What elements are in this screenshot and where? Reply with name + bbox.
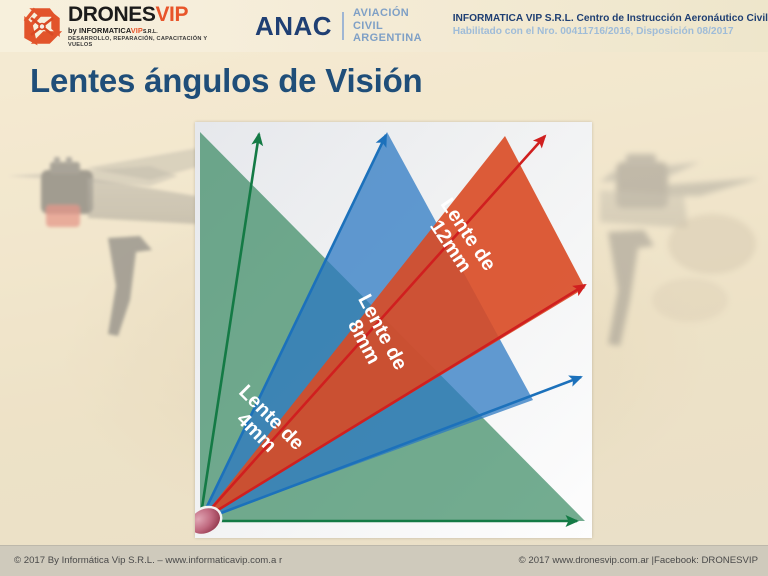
institution-line2: Habilitado con el Nro. 00411716/2016, Di…	[453, 26, 768, 39]
anac-subtitle: AVIACIÓN CIVIL ARGENTINA	[353, 7, 439, 46]
institution-info: INFORMATICA VIP S.R.L. Centro de Instruc…	[453, 13, 768, 39]
page-title: Lentes ángulos de Visión	[30, 62, 423, 100]
logo-sub-by: by INFORMATICA	[68, 26, 131, 35]
dronesvip-logo[interactable]: DRONESVIP by INFORMATICAVIPS.R.L. DESARR…	[0, 4, 229, 48]
header-bar: DRONESVIP by INFORMATICAVIPS.R.L. DESARR…	[0, 0, 768, 52]
institution-line1: INFORMATICA VIP S.R.L. Centro de Instruc…	[453, 13, 768, 26]
slide-root: DRONESVIP by INFORMATICAVIPS.R.L. DESARR…	[0, 0, 768, 576]
logo-title: DRONESVIP	[68, 4, 229, 25]
footer-bar: © 2017 By Informática Vip S.R.L. – www.i…	[0, 545, 768, 576]
logo-title-accent: VIP	[155, 3, 188, 26]
anac-acronym: ANAC	[255, 11, 332, 42]
anac-subtitle-line2: ARGENTINA	[353, 32, 439, 45]
footer-right-text: © 2017 www.dronesvip.com.ar |Facebook: D…	[519, 555, 758, 566]
anac-divider	[342, 12, 344, 40]
lens-angle-diagram: Lente de4mm Lente de8mm Lente de12mm	[195, 122, 592, 538]
logo-title-main: DRONES	[68, 3, 155, 26]
dronesvip-logo-text: DRONESVIP by INFORMATICAVIPS.R.L. DESARR…	[68, 4, 229, 48]
anac-subtitle-line1: AVIACIÓN CIVIL	[353, 7, 439, 33]
logo-sub-accent: VIP	[131, 26, 143, 35]
dronesvip-cube-logo-icon	[22, 6, 62, 46]
logo-tagline: DESARROLLO, REPARACIÓN, CAPACITACIÓN Y V…	[68, 37, 229, 48]
logo-sub-srl: S.R.L.	[143, 29, 158, 35]
footer-left-text: © 2017 By Informática Vip S.R.L. – www.i…	[14, 555, 282, 566]
logo-subtitle: by INFORMATICAVIPS.R.L.	[68, 27, 229, 35]
anac-logo[interactable]: ANAC AVIACIÓN CIVIL ARGENTINA	[255, 7, 439, 46]
lens-angle-diagram-panel: Lente de4mm Lente de8mm Lente de12mm	[195, 122, 592, 538]
